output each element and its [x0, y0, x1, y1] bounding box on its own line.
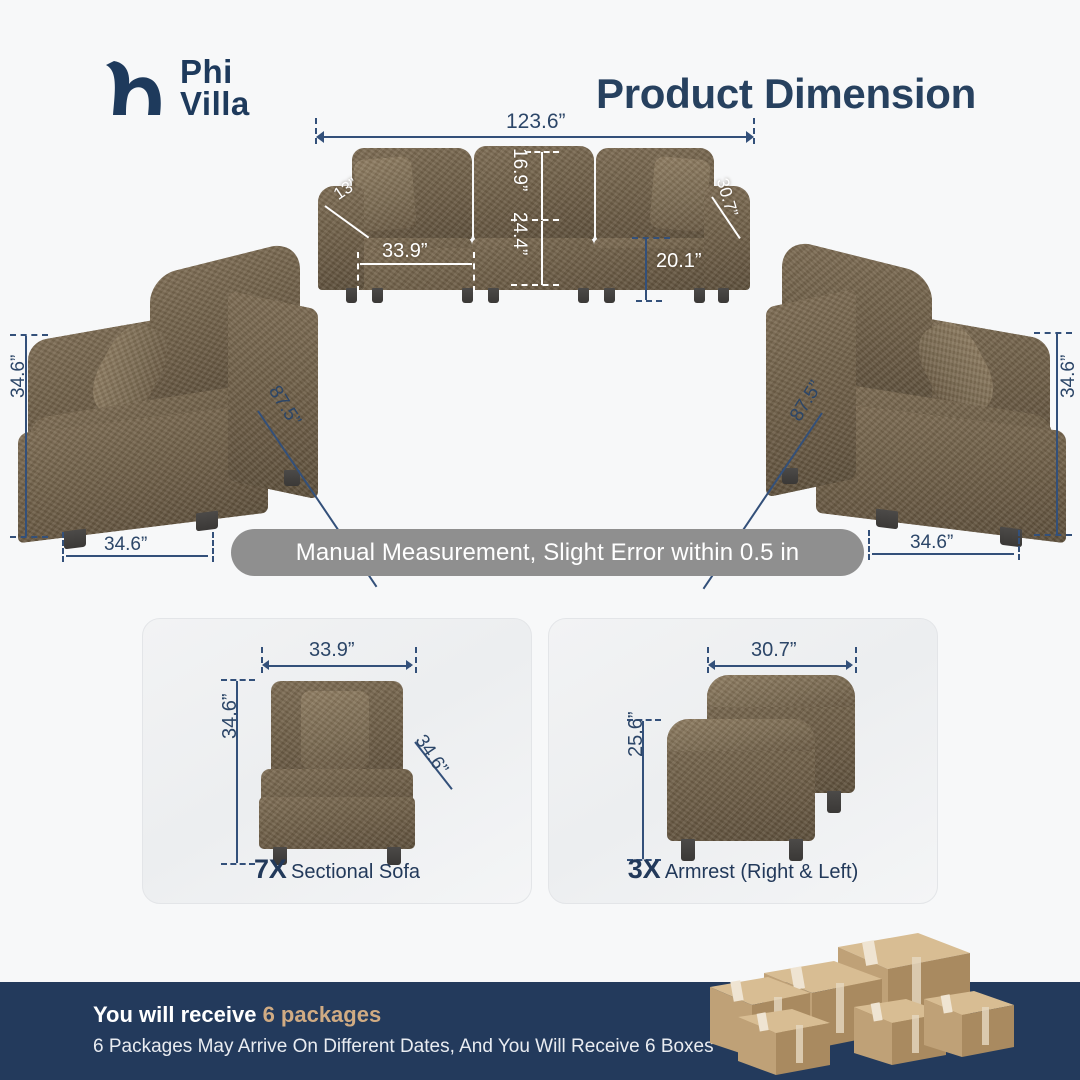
dim-backrest-height: 16.9”	[508, 148, 530, 191]
phi-villa-mark-icon	[104, 57, 170, 119]
module-a-qty: 7X	[254, 854, 287, 884]
brand-logo: Phi Villa	[104, 56, 250, 119]
module-card-sectional-sofa: 33.9” 34.6” 34.6” 7X Sectional Sofa	[142, 618, 532, 904]
dim-left-height: 34.6”	[8, 355, 30, 398]
dim-module-width: 33.9”	[382, 240, 428, 263]
infographic-canvas: Phi Villa Product Dimension	[0, 0, 1080, 1080]
dim-module-a-depth: 34.6”	[410, 731, 452, 779]
dim-module-b-height: 25.6”	[625, 711, 648, 757]
module-b-caption: 3X Armrest (Right & Left)	[549, 854, 937, 885]
dim-right-width: 34.6”	[910, 532, 953, 554]
footer-headline-prefix: You will receive	[93, 1002, 263, 1027]
footer-headline: You will receive 6 packages	[93, 1002, 381, 1028]
dim-total-width: 123.6”	[506, 110, 566, 134]
measurement-notice: Manual Measurement, Slight Error within …	[231, 529, 864, 576]
dim-right-height: 34.6”	[1058, 355, 1080, 398]
dim-module-a-height: 34.6”	[219, 693, 242, 739]
dim-module-a-width: 33.9”	[309, 639, 355, 662]
cardboard-boxes-icon	[706, 925, 1036, 1080]
module-b-name: Armrest (Right & Left)	[665, 861, 858, 883]
dim-module-b-width: 30.7”	[751, 639, 797, 662]
module-card-armrest: 30.7” 25.6” 3X Armrest (Right & Left)	[548, 618, 938, 904]
dim-seat-height: 20.1”	[656, 250, 702, 273]
module-b-qty: 3X	[628, 854, 661, 884]
dim-left-width: 34.6”	[104, 534, 147, 556]
brand-name: Phi Villa	[180, 56, 250, 119]
module-a-name: Sectional Sofa	[291, 861, 420, 883]
footer-subtext: 6 Packages May Arrive On Different Dates…	[93, 1036, 714, 1058]
page-title: Product Dimension	[556, 70, 1016, 118]
module-a-caption: 7X Sectional Sofa	[143, 854, 531, 885]
dim-seat-back-height: 24.4”	[508, 212, 530, 255]
footer-headline-highlight: 6 packages	[263, 1002, 382, 1027]
